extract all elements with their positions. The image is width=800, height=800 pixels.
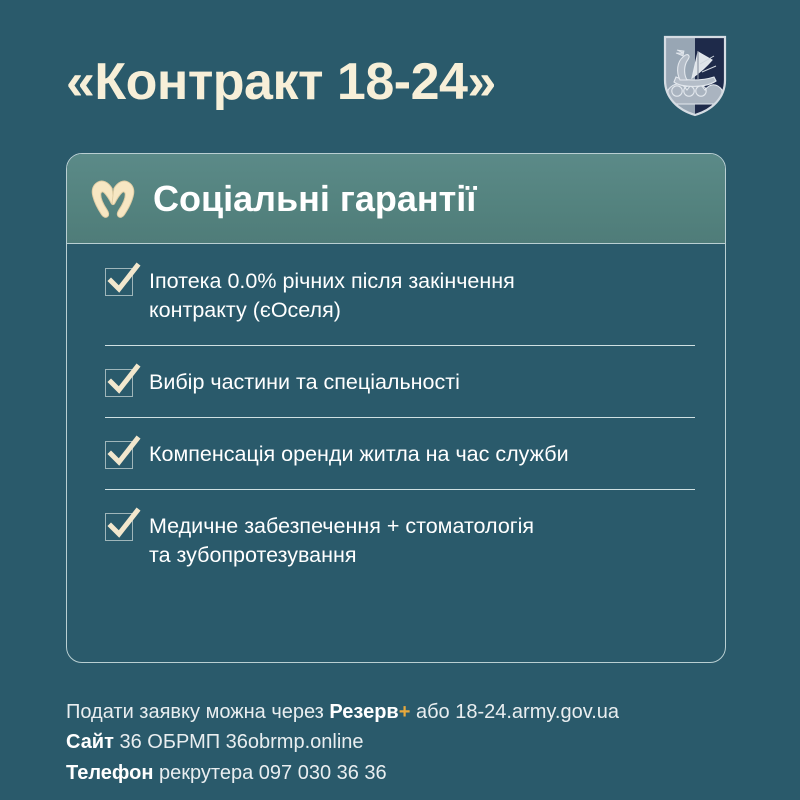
- benefits-list: Іпотека 0.0% річних після закінчення кон…: [67, 244, 725, 590]
- page-title: «Контракт 18-24»: [66, 56, 496, 108]
- footer-apply-prefix: Подати заявку можна через: [66, 701, 329, 723]
- footer-apply-middle: або: [410, 701, 455, 723]
- footer-brand-plus-icon: +: [399, 701, 411, 723]
- checkmark-icon: [105, 513, 133, 541]
- checkmark-icon: [105, 268, 133, 296]
- footer-site-label: Сайт: [66, 731, 114, 753]
- list-item: Іпотека 0.0% річних після закінчення кон…: [97, 244, 695, 345]
- footer-apply-site-link[interactable]: 18-24.army.gov.ua: [455, 701, 619, 723]
- footer: Подати заявку можна через Резерв+ або 18…: [66, 697, 766, 788]
- footer-site-line: Сайт 36 ОБРМП 36obrmp.online: [66, 727, 766, 757]
- card-title: Соціальні гарантії: [153, 181, 476, 217]
- poster-root: «Контракт 18-24»: [0, 0, 800, 800]
- footer-phone-line: Телефон рекрутера 097 030 36 36: [66, 758, 766, 788]
- footer-phone-value[interactable]: рекрутера 097 030 36 36: [153, 762, 386, 784]
- footer-apply-line: Подати заявку можна через Резерв+ або 18…: [66, 697, 766, 727]
- checkmark-icon: [105, 369, 133, 397]
- list-item: Компенсація оренди житла на час служби: [97, 417, 695, 489]
- list-item: Вибір частини та спеціальності: [97, 345, 695, 417]
- shield-viking-ship-emblem-icon: [662, 34, 728, 118]
- benefits-card: Соціальні гарантії Іпотека 0.0% річних п…: [66, 153, 726, 663]
- card-header: Соціальні гарантії: [67, 154, 725, 244]
- footer-brand-rezerv: Резерв: [329, 701, 398, 723]
- list-item-label: Іпотека 0.0% річних після закінчення кон…: [149, 266, 515, 325]
- footer-site-value[interactable]: 36 ОБРМП 36obrmp.online: [114, 731, 364, 753]
- list-item-label: Вибір частини та спеціальності: [149, 367, 460, 397]
- list-item-label: Медичне забезпечення + стоматологія та з…: [149, 511, 534, 570]
- heart-hands-icon: [85, 171, 141, 227]
- list-item-label: Компенсація оренди житла на час служби: [149, 439, 569, 469]
- footer-phone-label: Телефон: [66, 762, 153, 784]
- list-item: Медичне забезпечення + стоматологія та з…: [97, 489, 695, 590]
- checkmark-icon: [105, 441, 133, 469]
